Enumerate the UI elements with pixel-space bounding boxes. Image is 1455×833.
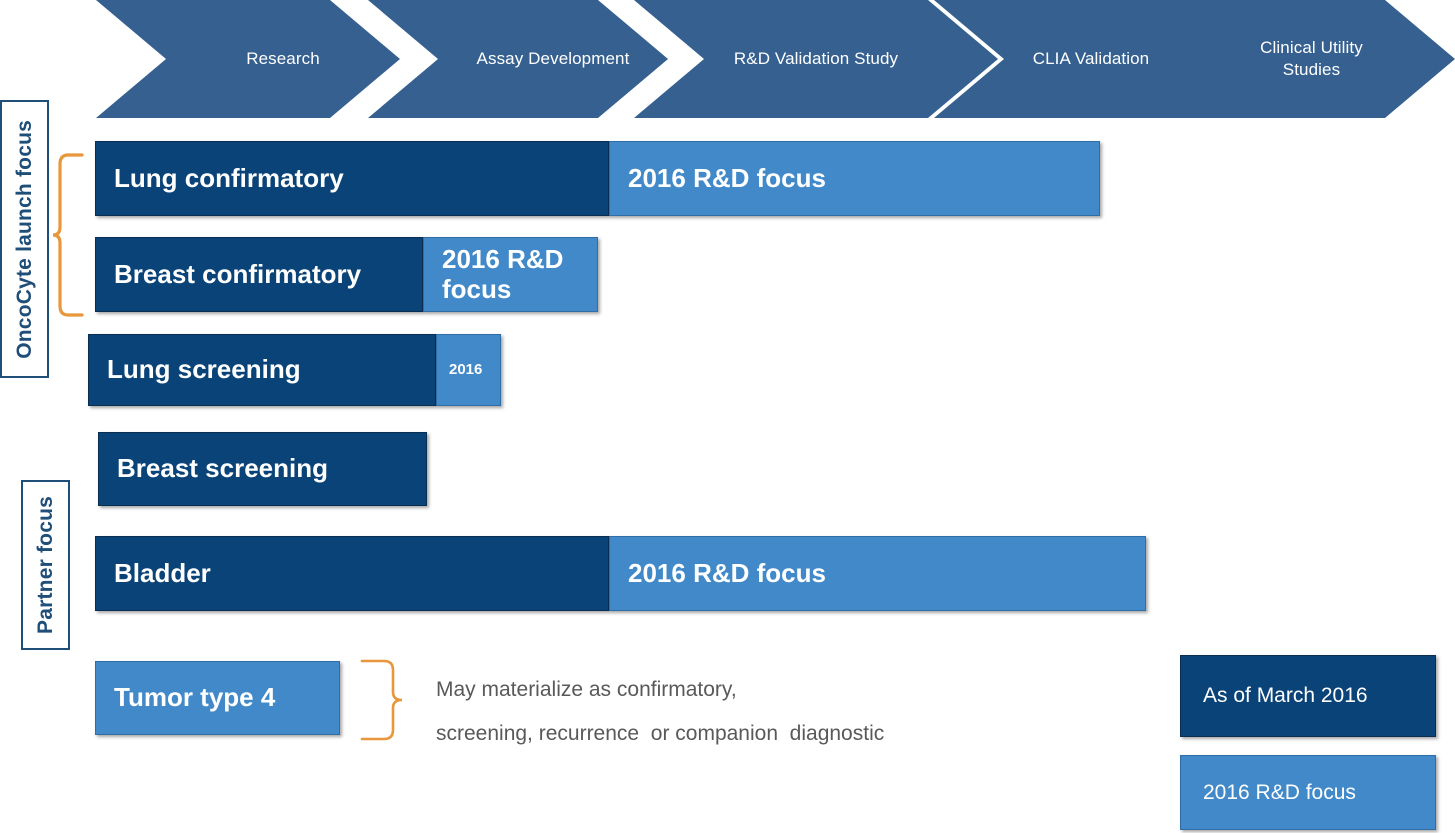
process-stage-research[interactable]: Research	[166, 0, 400, 118]
process-stage-label: R&D Validation Study	[728, 48, 904, 70]
tumor-type-4-annotation: May materialize as confirmatory, screeni…	[436, 668, 884, 756]
legend-rd-focus: 2016 R&D focus	[1180, 755, 1436, 830]
legend-as-of-date: As of March 2016	[1180, 655, 1436, 737]
legend-label: As of March 2016	[1181, 684, 1376, 708]
bar-lung-screening-primary[interactable]: Lung screening	[88, 334, 436, 406]
bar-bladder-secondary[interactable]: 2016 R&D focus	[609, 536, 1146, 611]
bar-bladder-primary[interactable]: Bladder	[95, 536, 609, 611]
process-stage-label: Research	[240, 48, 326, 70]
process-stage-label: Assay Development	[471, 48, 636, 70]
process-stage-assay-development[interactable]: Assay Development	[438, 0, 668, 118]
bar-label: 2016 R&D focus	[610, 559, 834, 588]
process-stage-clia-validation[interactable]: CLIA Validation	[1004, 0, 1178, 118]
slide-canvas: Research Assay Development R&D Validatio…	[0, 0, 1455, 833]
bar-lung-screening-secondary[interactable]: 2016	[436, 334, 501, 406]
bar-label: Bladder	[96, 559, 219, 588]
bar-breast-screening-primary[interactable]: Breast screening	[98, 432, 427, 506]
bar-breast-confirmatory-primary[interactable]: Breast confirmatory	[95, 237, 423, 312]
bar-label: 2016 R&D focus	[610, 164, 834, 193]
bar-lung-confirmatory-primary[interactable]: Lung confirmatory	[95, 141, 609, 216]
bar-label: Lung confirmatory	[96, 164, 352, 193]
oncocyte-group-brace	[52, 150, 88, 320]
side-label-text: OncoCyte launch focus	[13, 120, 37, 359]
bar-lung-confirmatory-secondary[interactable]: 2016 R&D focus	[609, 141, 1100, 216]
process-stage-label: CLIA Validation	[1027, 48, 1155, 70]
bar-label: Breast confirmatory	[96, 260, 369, 289]
process-stage-label: Clinical Utility Studies	[1238, 37, 1385, 81]
bar-label: 2016	[437, 362, 490, 379]
process-stage-clinical-utility-studies[interactable]: Clinical Utility Studies	[1238, 0, 1385, 118]
bar-label: Lung screening	[89, 355, 309, 384]
process-chevron-band: Research Assay Development R&D Validatio…	[0, 0, 1455, 120]
legend-label: 2016 R&D focus	[1181, 781, 1364, 805]
bar-breast-confirmatory-secondary[interactable]: 2016 R&D focus	[423, 237, 598, 312]
side-label-text: Partner focus	[34, 496, 58, 634]
annotation-line-2: screening, recurrence or companion diagn…	[436, 712, 884, 756]
side-label-oncocyte-launch-focus: OncoCyte launch focus	[0, 100, 49, 378]
process-stage-rd-validation-study[interactable]: R&D Validation Study	[704, 0, 928, 118]
bar-label: 2016 R&D focus	[424, 245, 571, 303]
side-label-partner-focus: Partner focus	[21, 480, 70, 650]
bar-label: Tumor type 4	[96, 683, 283, 712]
tumor-type-4-note-brace	[360, 658, 412, 742]
bar-label: Breast screening	[99, 454, 336, 483]
annotation-line-1: May materialize as confirmatory,	[436, 668, 884, 712]
bar-tumor-type-4[interactable]: Tumor type 4	[95, 661, 340, 735]
